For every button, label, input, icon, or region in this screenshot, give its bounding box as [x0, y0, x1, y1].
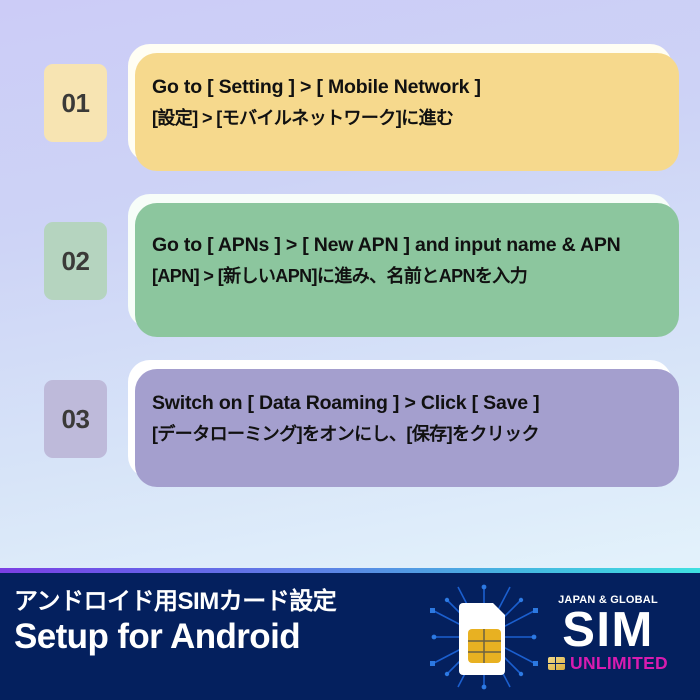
step-card-02: Go to [ APNs ] > [ New APN ] and input n… — [128, 194, 672, 328]
footer-title-ja: アンドロイド用SIMカード設定 — [14, 589, 336, 616]
step-card-01: Go to [ Setting ] > [ Mobile Network ] [… — [128, 44, 672, 162]
step-card-03: Switch on [ Data Roaming ] > Click [ Sav… — [128, 360, 672, 478]
step-number-badge-02: 02 — [44, 222, 107, 300]
step-text-en-03: Switch on [ Data Roaming ] > Click [ Sav… — [152, 392, 652, 416]
step-item-01: 01 Go to [ Setting ] > [ Mobile Network … — [44, 44, 672, 162]
step-item-02: 02 Go to [ APNs ] > [ New APN ] and inpu… — [44, 194, 672, 328]
step-text-ja-01: [設定] > [モバイルネットワーク]に進む — [152, 108, 652, 130]
steps-list: 01 Go to [ Setting ] > [ Mobile Network … — [0, 0, 700, 568]
step-text-en-01: Go to [ Setting ] > [ Mobile Network ] — [152, 76, 652, 100]
step-text-ja-03: [データローミング]をオンにし、[保存]をクリック — [152, 424, 652, 446]
step-item-03: 03 Switch on [ Data Roaming ] > Click [ … — [44, 360, 672, 478]
step-number-badge-01: 01 — [44, 64, 107, 142]
sim-chip-icon — [548, 657, 565, 670]
step-number-badge-03: 03 — [44, 380, 107, 458]
brand-logo: JAPAN & GLOBAL SIM UNLIMITED — [524, 595, 692, 673]
footer-title-group: アンドロイド用SIMカード設定 Setup for Android — [14, 589, 336, 657]
brand-unlimited-label: UNLIMITED — [570, 655, 668, 673]
brand-bottom-row: UNLIMITED — [524, 655, 692, 673]
footer-title-en: Setup for Android — [14, 616, 336, 657]
brand-name: SIM — [524, 607, 692, 654]
step-text-en-02: Go to [ APNs ] > [ New APN ] and input n… — [152, 234, 652, 258]
instruction-card-page: 01 Go to [ Setting ] > [ Mobile Network … — [0, 0, 700, 700]
step-text-ja-02: [APN] > [新しいAPN]に進み、名前とAPNを入力 — [152, 266, 652, 288]
footer-banner: アンドロイド用SIMカード設定 Setup for Android JAPAN … — [0, 573, 700, 700]
